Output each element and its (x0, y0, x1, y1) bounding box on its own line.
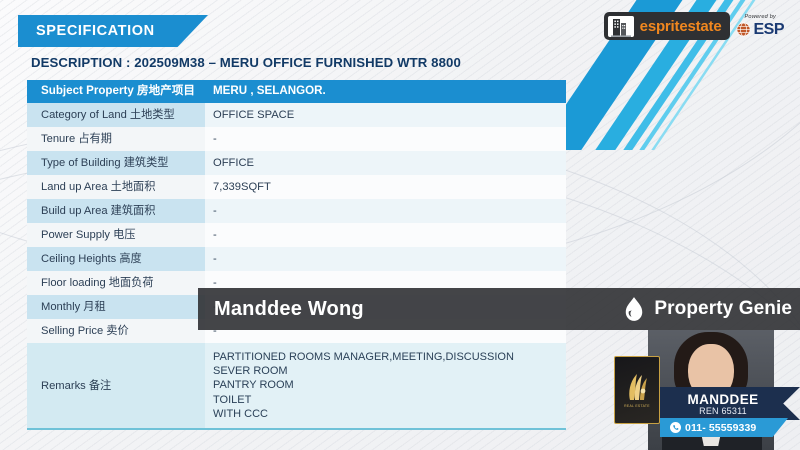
building-icon (608, 16, 634, 37)
row-value: OFFICE (205, 151, 566, 175)
agent-phone-ribbon[interactable]: 011- 55559339 (660, 418, 788, 437)
esp-logo: Powered by ESP (736, 14, 784, 39)
remarks-line: PANTRY ROOM (213, 378, 566, 392)
row-label: Monthly 月租 (27, 295, 205, 319)
remarks-label: Remarks 备注 (27, 343, 205, 429)
agent-contact-card[interactable]: REAL ESTATE MANDDEE REN 65311 011- 55559… (612, 330, 800, 450)
property-genie-branding: Property Genie (623, 288, 792, 330)
row-label: Floor loading 地面负荷 (27, 271, 205, 295)
agent-phone-number: 011- 55559339 (685, 422, 756, 434)
espritestate-logo-pill: espritestate (604, 12, 731, 40)
table-row: Land up Area 土地面积 7,339SQFT (27, 175, 566, 199)
row-label: Selling Price 卖价 (27, 319, 205, 343)
remarks-line: TOILET (213, 393, 566, 407)
row-label: Tenure 占有期 (27, 127, 205, 151)
award-wing-icon (624, 372, 650, 402)
table-header-value: MERU , SELANGOR. (205, 80, 566, 103)
row-value: - (205, 199, 566, 223)
row-value: 7,339SQFT (205, 175, 566, 199)
remarks-line: PARTITIONED ROOMS MANAGER,MEETING,DISCUS… (213, 350, 566, 364)
globe-icon (736, 22, 751, 37)
table-row: Category of Land 土地类型 OFFICE SPACE (27, 103, 566, 127)
award-badge-caption: REAL ESTATE (624, 404, 650, 409)
award-badge: REAL ESTATE (614, 356, 660, 424)
esp-logo-row: ESP (736, 21, 784, 39)
esp-wordmark: ESP (753, 21, 784, 39)
whatsapp-icon (670, 422, 681, 433)
genie-flame-icon (623, 296, 645, 322)
row-value: - (205, 127, 566, 151)
overlay-agent-name: Manddee Wong (214, 298, 364, 321)
row-label: Ceiling Heights 高度 (27, 247, 205, 271)
row-label: Power Supply 电压 (27, 223, 205, 247)
row-value: - (205, 223, 566, 247)
row-label: Type of Building 建筑类型 (27, 151, 205, 175)
remarks-line: WITH CCC (213, 407, 566, 421)
table-row-remarks: Remarks 备注 PARTITIONED ROOMS MANAGER,MEE… (27, 343, 566, 429)
row-value: OFFICE SPACE (205, 103, 566, 127)
specification-banner: SPECIFICATION (18, 15, 208, 47)
agent-card-ren: REN 65311 (699, 406, 747, 416)
table-row: Build up Area 建筑面积 - (27, 199, 566, 223)
table-row: Tenure 占有期 - (27, 127, 566, 151)
table-row: Type of Building 建筑类型 OFFICE (27, 151, 566, 175)
specification-table: Subject Property 房地产项目 MERU , SELANGOR. … (27, 80, 566, 430)
table-header-row: Subject Property 房地产项目 MERU , SELANGOR. (27, 80, 566, 103)
agent-card-name: MANDDEE (687, 392, 758, 407)
table-header-label: Subject Property 房地产项目 (27, 80, 205, 103)
row-value: - (205, 247, 566, 271)
remarks-line: SEVER ROOM (213, 364, 566, 378)
description-heading: DESCRIPTION : 202509M38 – MERU OFFICE FU… (31, 55, 461, 70)
espritestate-wordmark: espritestate (640, 18, 722, 35)
agent-name-overlay-bar: Manddee Wong Property Genie (198, 288, 800, 330)
espritestate-logo[interactable]: espritestate Powered by ESP (604, 12, 784, 40)
row-label: Land up Area 土地面积 (27, 175, 205, 199)
table-row: Power Supply 电压 - (27, 223, 566, 247)
table-row: Ceiling Heights 高度 - (27, 247, 566, 271)
specification-banner-title: SPECIFICATION (36, 23, 155, 39)
row-label: Category of Land 土地类型 (27, 103, 205, 127)
agent-name-ribbon: MANDDEE REN 65311 (660, 387, 800, 420)
remarks-value: PARTITIONED ROOMS MANAGER,MEETING,DISCUS… (205, 343, 566, 429)
powered-by-label: Powered by (744, 14, 776, 20)
property-genie-text: Property Genie (654, 298, 792, 320)
row-label: Build up Area 建筑面积 (27, 199, 205, 223)
